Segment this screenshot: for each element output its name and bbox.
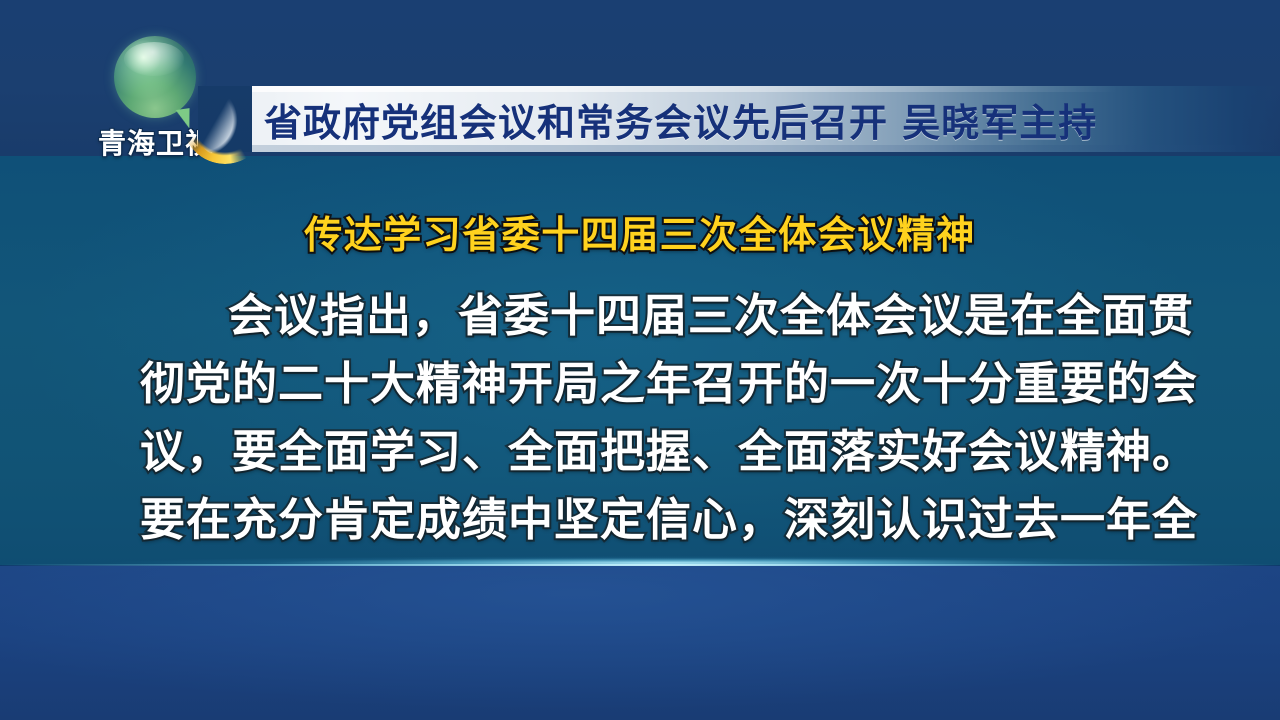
headline-text: 省政府党组会议和常务会议先后召开 吴晓军主持 bbox=[264, 86, 1097, 152]
subheadline-text: 传达学习省委十四届三次全体会议精神 bbox=[0, 204, 1280, 259]
headline-bar: 省政府党组会议和常务会议先后召开 吴晓军主持 bbox=[198, 86, 1280, 152]
body-line: 彻党的二十大精神开局之年召开的一次十分重要的会 bbox=[140, 350, 1150, 418]
broadcast-news-lower-third-screen: 青海卫视 省政府党组会议和常务会议先后召开 吴晓军主持 传达学习省委十四届三次全… bbox=[0, 0, 1280, 720]
background-band-bottom bbox=[0, 566, 1280, 720]
body-line: 要在充分肯定成绩中坚定信心，深刻认识过去一年全 bbox=[140, 486, 1150, 554]
body-paragraph: 会议指出，省委十四届三次全体会议是在全面贯 彻党的二十大精神开局之年召开的一次十… bbox=[140, 282, 1150, 554]
headline-bar-arc-highlight bbox=[192, 82, 262, 158]
body-line: 会议指出，省委十四届三次全体会议是在全面贯 bbox=[140, 282, 1150, 350]
body-line: 议，要全面学习、全面把握、全面落实好会议精神。 bbox=[140, 418, 1150, 486]
